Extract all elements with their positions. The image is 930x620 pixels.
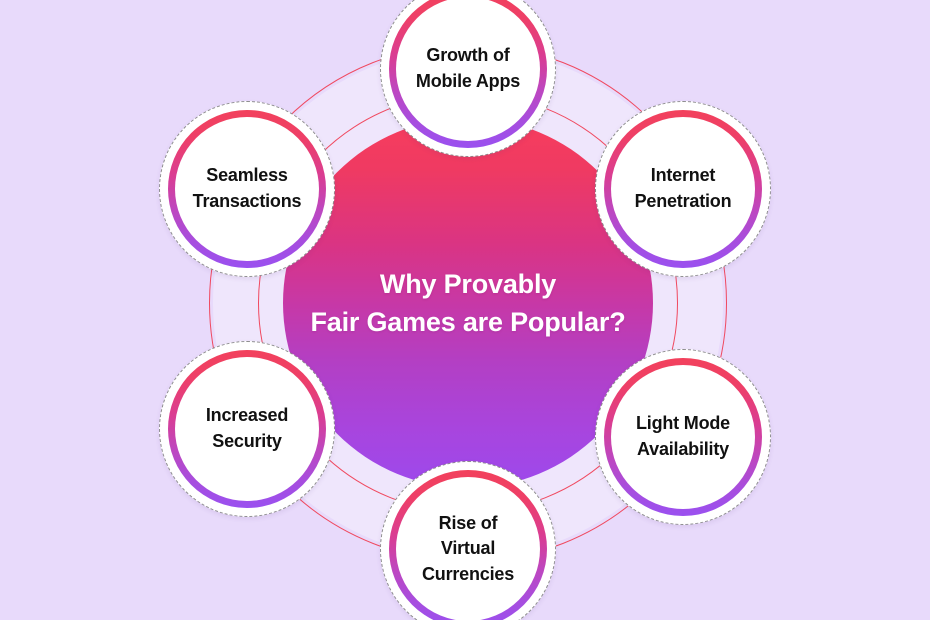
hub-title-line-1: Why Provably — [380, 265, 556, 303]
node-inner-disc: Growth of Mobile Apps — [396, 0, 540, 141]
infographic-canvas: Why Provably Fair Games are Popular? Gro… — [0, 0, 930, 620]
node-light-mode-availability[interactable]: Light Mode Availability — [595, 349, 771, 525]
node-label: Internet Penetration — [629, 163, 738, 214]
hub-title-line-2: Fair Games are Popular? — [310, 303, 625, 341]
node-gradient-ring: Seamless Transactions — [168, 110, 326, 268]
node-increased-security[interactable]: Increased Security — [159, 341, 335, 517]
node-gradient-ring: Light Mode Availability — [604, 358, 762, 516]
node-gradient-ring: Internet Penetration — [604, 110, 762, 268]
node-label: Light Mode Availability — [630, 411, 736, 462]
node-seamless-transactions[interactable]: Seamless Transactions — [159, 101, 335, 277]
node-gradient-ring: Increased Security — [168, 350, 326, 508]
node-internet-penetration[interactable]: Internet Penetration — [595, 101, 771, 277]
node-inner-disc: Light Mode Availability — [611, 365, 755, 509]
node-label: Rise of Virtual Currencies — [416, 511, 520, 588]
node-label: Increased Security — [200, 403, 294, 454]
node-inner-disc: Increased Security — [175, 357, 319, 501]
node-label: Growth of Mobile Apps — [410, 43, 526, 94]
node-inner-disc: Rise of Virtual Currencies — [396, 477, 540, 620]
node-inner-disc: Seamless Transactions — [175, 117, 319, 261]
node-inner-disc: Internet Penetration — [611, 117, 755, 261]
node-gradient-ring: Rise of Virtual Currencies — [389, 470, 547, 620]
node-label: Seamless Transactions — [187, 163, 308, 214]
